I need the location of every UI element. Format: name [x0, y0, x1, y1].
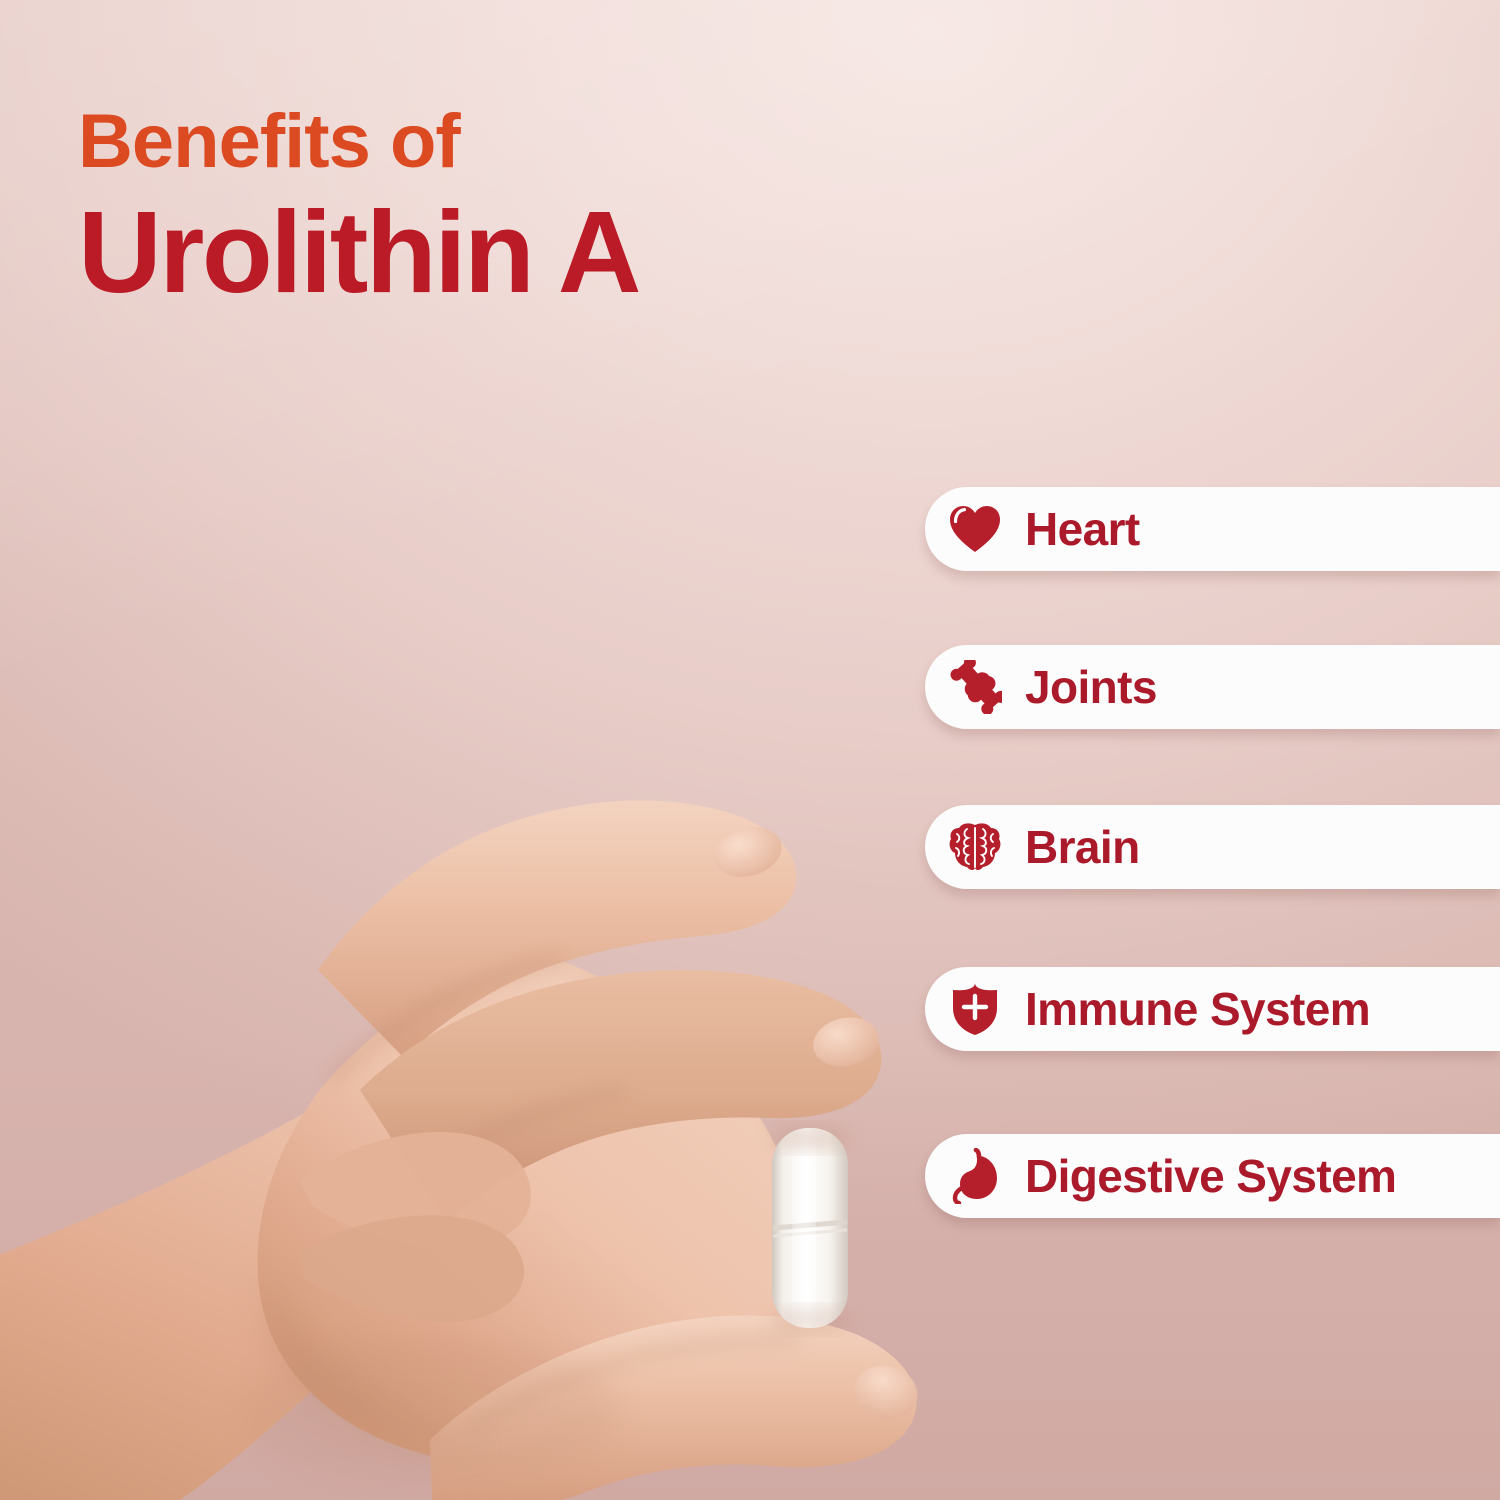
- hand-holding-capsule-image: [0, 390, 940, 1500]
- benefits-list: Heart: [925, 0, 1500, 1500]
- benefit-item-heart[interactable]: Heart: [925, 487, 1500, 571]
- benefit-label: Immune System: [1025, 982, 1370, 1036]
- benefit-label: Digestive System: [1025, 1149, 1396, 1203]
- benefit-item-immune-system[interactable]: Immune System: [925, 967, 1500, 1051]
- benefit-label: Joints: [1025, 660, 1157, 714]
- bone-joint-icon: [947, 659, 1003, 715]
- heading-line-urolithin-a: Urolithin A: [78, 190, 908, 315]
- heading-line-benefits-of: Benefits of: [78, 104, 908, 180]
- benefit-item-joints[interactable]: Joints: [925, 645, 1500, 729]
- benefit-label: Brain: [1025, 820, 1140, 874]
- heart-icon: [947, 501, 1003, 557]
- brain-icon: [947, 819, 1003, 875]
- benefit-item-digestive-system[interactable]: Digestive System: [925, 1134, 1500, 1218]
- stomach-icon: [947, 1148, 1003, 1204]
- benefit-item-brain[interactable]: Brain: [925, 805, 1500, 889]
- page-title: Benefits of Urolithin A: [78, 104, 908, 315]
- shield-plus-icon: [947, 981, 1003, 1037]
- promo-banner: Benefits of Urolithin A: [0, 0, 1500, 1500]
- benefit-label: Heart: [1025, 502, 1140, 556]
